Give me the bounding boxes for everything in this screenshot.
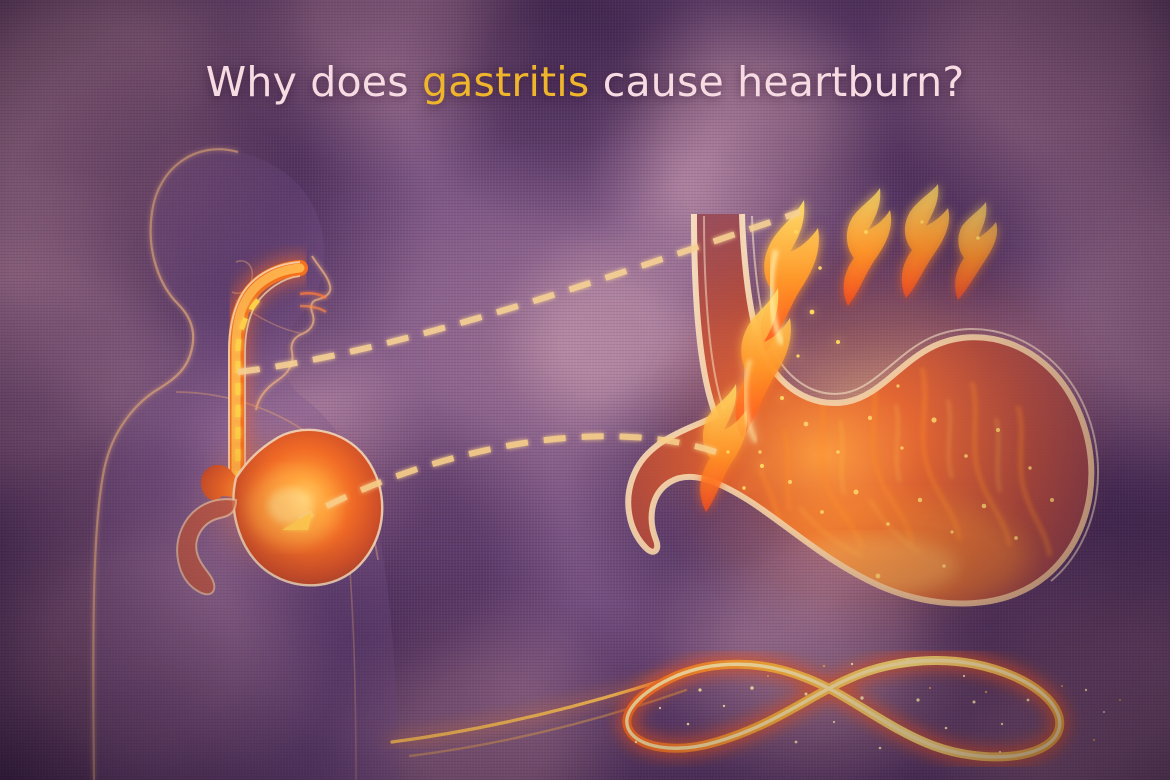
- illustration-canvas: Why does gastritis cause heartburn?: [0, 0, 1170, 780]
- page-title: Why does gastritis cause heartburn?: [0, 58, 1170, 106]
- vignette-overlay: [0, 0, 1170, 780]
- title-part-one: Why does: [206, 58, 422, 106]
- title-highlight-gastritis: gastritis: [422, 58, 589, 106]
- title-part-two: cause heartburn?: [589, 58, 964, 106]
